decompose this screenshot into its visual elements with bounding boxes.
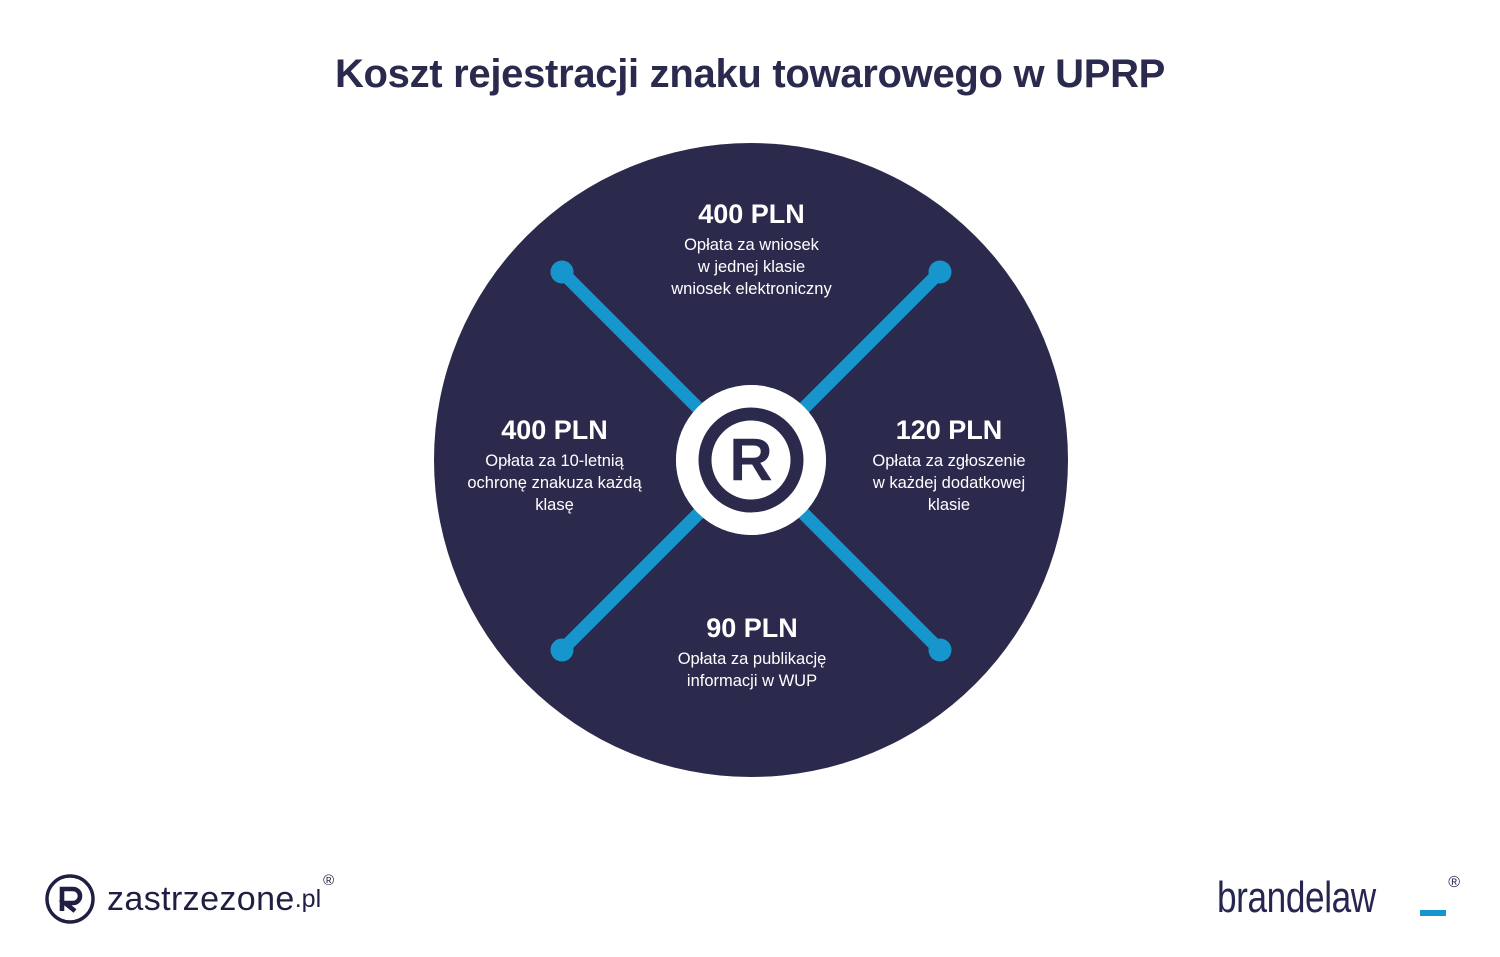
cost-description-line: informacji w WUP bbox=[612, 670, 892, 692]
cost-description-line: wniosek elektroniczny bbox=[614, 278, 889, 300]
registered-mark-icon: ® bbox=[1448, 874, 1460, 892]
spoke-dot-bottomleft bbox=[551, 639, 574, 662]
cost-description-line: w jednej klasie bbox=[614, 256, 889, 278]
cost-description: Opłata za wniosek w jednej klasie wniose… bbox=[614, 234, 889, 300]
cost-description-line: ochronę znakuza każdą bbox=[442, 472, 667, 494]
page-title: Koszt rejestracji znaku towarowego w UPR… bbox=[0, 52, 1500, 97]
registered-trademark-icon: R bbox=[676, 385, 826, 535]
spoke-dot-topleft bbox=[551, 261, 574, 284]
cost-item-bottom: 90 PLN Opłata za publikację informacji w… bbox=[612, 613, 892, 692]
zastrzezone-r-circle-icon bbox=[44, 873, 96, 925]
cost-item-right: 120 PLN Opłata za zgłoszenie w każdej do… bbox=[834, 415, 1064, 517]
brand-tld: .pl bbox=[295, 885, 321, 914]
svg-text:R: R bbox=[729, 427, 772, 494]
cost-breakdown-wheel: R 400 PLN Opłata za wniosek w jednej kla… bbox=[434, 143, 1068, 777]
center-badge: R bbox=[676, 385, 826, 535]
cost-description-line: w każdej dodatkowej bbox=[834, 472, 1064, 494]
cost-amount: 90 PLN bbox=[612, 613, 892, 643]
cost-amount: 400 PLN bbox=[442, 415, 667, 445]
cost-description-line: klasę bbox=[442, 494, 667, 516]
cost-description: Opłata za publikację informacji w WUP bbox=[612, 648, 892, 692]
cost-description-line: Opłata za zgłoszenie bbox=[834, 450, 1064, 472]
cost-description-line: klasie bbox=[834, 494, 1064, 516]
cost-description: Opłata za zgłoszenie w każdej dodatkowej… bbox=[834, 450, 1064, 516]
cost-amount: 120 PLN bbox=[834, 415, 1064, 445]
registered-mark-icon: ® bbox=[323, 872, 334, 889]
spoke-dot-topright bbox=[929, 261, 952, 284]
brand-brandelaw: brandelaw ® bbox=[1217, 876, 1460, 920]
brand-zastrzezone: zastrzezone .pl ® bbox=[44, 868, 334, 930]
brand-name: brandelaw bbox=[1217, 876, 1376, 920]
spoke-dot-bottomright bbox=[929, 639, 952, 662]
cost-item-top: 400 PLN Opłata za wniosek w jednej klasi… bbox=[614, 199, 889, 301]
cost-description-line: Opłata za 10-letnią bbox=[442, 450, 667, 472]
cost-description-line: Opłata za publikację bbox=[612, 648, 892, 670]
cursor-underscore-icon bbox=[1420, 910, 1446, 916]
brand-name: zastrzezone bbox=[107, 880, 295, 919]
cost-description: Opłata za 10-letnią ochronę znakuza każd… bbox=[442, 450, 667, 516]
cost-amount: 400 PLN bbox=[614, 199, 889, 229]
cost-description-line: Opłata za wniosek bbox=[614, 234, 889, 256]
cost-item-left: 400 PLN Opłata za 10-letnią ochronę znak… bbox=[442, 415, 667, 517]
